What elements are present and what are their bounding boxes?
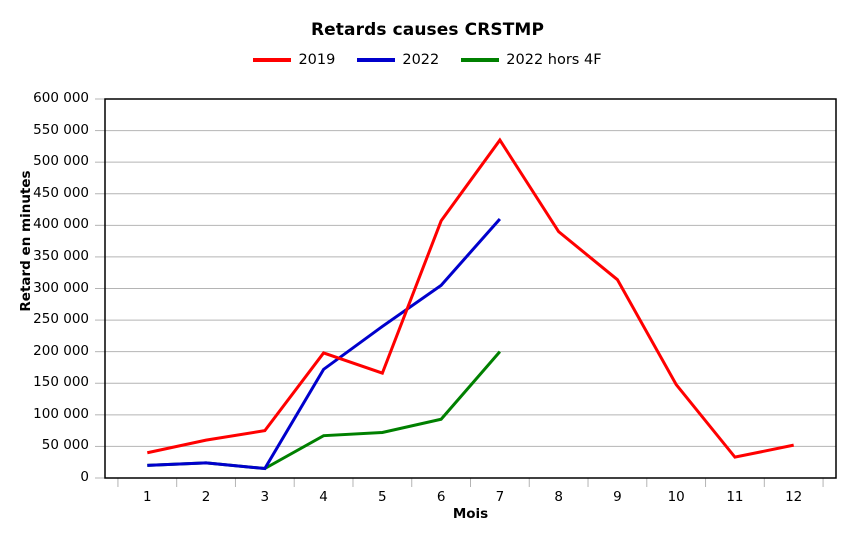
y-tick-label: 0 xyxy=(0,471,89,485)
y-tick-label: 300 000 xyxy=(0,282,89,296)
x-tick-label: 7 xyxy=(470,491,530,505)
y-tick-label: 600 000 xyxy=(0,92,89,106)
y-tick-label: 500 000 xyxy=(0,155,89,169)
y-tick-label: 350 000 xyxy=(0,250,89,264)
plot-area xyxy=(0,0,855,537)
y-tick-label: 50 000 xyxy=(0,439,89,453)
y-tick-label: 250 000 xyxy=(0,313,89,327)
y-tick-label: 200 000 xyxy=(0,345,89,359)
y-tick-label: 400 000 xyxy=(0,218,89,232)
y-tick-label: 450 000 xyxy=(0,187,89,201)
x-tick-label: 9 xyxy=(587,491,647,505)
y-tick-marks xyxy=(95,99,105,478)
x-tick-label: 3 xyxy=(235,491,295,505)
x-tick-label: 6 xyxy=(411,491,471,505)
x-tick-label: 1 xyxy=(117,491,177,505)
x-tick-label: 4 xyxy=(294,491,354,505)
series-line-2019 xyxy=(147,140,793,457)
series-lines xyxy=(147,140,793,468)
y-tick-label: 100 000 xyxy=(0,408,89,422)
x-tick-label: 10 xyxy=(646,491,706,505)
x-tick-label: 12 xyxy=(764,491,824,505)
chart-container: Retards causes CRSTMP 2019 2022 2022 hor… xyxy=(0,0,855,537)
y-tick-label: 550 000 xyxy=(0,124,89,138)
x-tick-label: 2 xyxy=(176,491,236,505)
x-tick-label: 5 xyxy=(352,491,412,505)
y-tick-label: 150 000 xyxy=(0,376,89,390)
x-tick-marks xyxy=(118,478,823,487)
gridlines xyxy=(105,99,836,446)
x-tick-label: 11 xyxy=(705,491,765,505)
x-tick-label: 8 xyxy=(529,491,589,505)
